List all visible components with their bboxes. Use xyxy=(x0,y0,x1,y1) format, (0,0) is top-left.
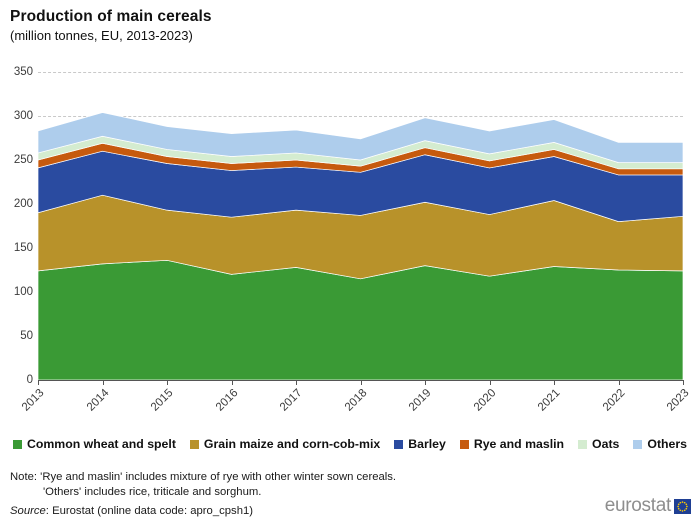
legend-label: Grain maize and corn-cob-mix xyxy=(204,437,380,451)
x-axis-label-2022: 2022 xyxy=(594,387,627,420)
legend-swatch-icon xyxy=(13,440,22,449)
x-axis-label-2021: 2021 xyxy=(530,387,563,420)
area-series-group xyxy=(38,72,683,380)
x-axis-tickmark xyxy=(619,380,620,385)
note-text-1: 'Rye and maslin' includes mixture of rye… xyxy=(40,471,396,483)
y-axis-tick-label: 150 xyxy=(3,242,33,254)
x-axis-label-2013: 2013 xyxy=(14,387,47,420)
y-axis-tick-label: 250 xyxy=(3,154,33,166)
legend-label: Common wheat and spelt xyxy=(27,437,176,451)
legend-label: Rye and maslin xyxy=(474,437,564,451)
x-axis-label-2023: 2023 xyxy=(659,387,692,420)
x-axis-label-2016: 2016 xyxy=(207,387,240,420)
note-label: Note: xyxy=(10,471,37,483)
legend-item-oats[interactable]: Oats xyxy=(578,437,619,451)
y-axis-tick-label: 0 xyxy=(3,374,33,386)
chart-footnotes: Note: 'Rye and maslin' includes mixture … xyxy=(10,470,530,517)
x-axis-label-2020: 2020 xyxy=(465,387,498,420)
y-axis-tick-label: 200 xyxy=(3,198,33,210)
x-axis-label-2019: 2019 xyxy=(401,387,434,420)
y-axis-tick-label: 350 xyxy=(3,66,33,78)
legend-swatch-icon xyxy=(394,440,403,449)
legend-label: Oats xyxy=(592,437,619,451)
legend-label: Others xyxy=(647,437,687,451)
x-axis-label-2018: 2018 xyxy=(336,387,369,420)
y-axis-tick-label: 50 xyxy=(3,330,33,342)
eu-stars-icon xyxy=(674,499,691,514)
y-axis-tick-label: 100 xyxy=(3,286,33,298)
x-axis-tickmark xyxy=(554,380,555,385)
source-line: Source: Eurostat (online data code: apro… xyxy=(10,505,530,517)
legend-swatch-icon xyxy=(633,440,642,449)
stacked-area-canvas xyxy=(38,72,683,380)
x-axis-tickmark xyxy=(683,380,684,385)
legend-item-common-wheat-and-spelt[interactable]: Common wheat and spelt xyxy=(13,437,176,451)
chart-legend: Common wheat and speltGrain maize and co… xyxy=(0,437,700,451)
legend-swatch-icon xyxy=(578,440,587,449)
x-axis-tickmark xyxy=(38,380,39,385)
x-axis-label-2014: 2014 xyxy=(78,387,111,420)
chart-plot-area: 050100150200250300350 201320142015201620… xyxy=(0,0,700,430)
y-axis-tick-label: 300 xyxy=(3,110,33,122)
eu-flag-icon xyxy=(674,499,691,514)
eurostat-wordmark: eurostat xyxy=(605,495,671,517)
x-axis-tickmark xyxy=(103,380,104,385)
eurostat-logo: eurostat xyxy=(605,495,691,517)
x-axis-tickmark xyxy=(296,380,297,385)
legend-item-others[interactable]: Others xyxy=(633,437,687,451)
legend-swatch-icon xyxy=(460,440,469,449)
x-axis-tickmark xyxy=(167,380,168,385)
x-axis-label-2017: 2017 xyxy=(272,387,305,420)
note-line-1: Note: 'Rye and maslin' includes mixture … xyxy=(10,470,530,485)
note-line-2: 'Others' includes rice, triticale and so… xyxy=(10,485,530,500)
x-axis-tickmark xyxy=(425,380,426,385)
x-axis-tickmark xyxy=(490,380,491,385)
legend-item-barley[interactable]: Barley xyxy=(394,437,446,451)
legend-label: Barley xyxy=(408,437,446,451)
source-text: : Eurostat (online data code: apro_cpsh1… xyxy=(46,505,253,517)
legend-item-grain-maize-and-corn-cob-mix[interactable]: Grain maize and corn-cob-mix xyxy=(190,437,380,451)
legend-item-rye-and-maslin[interactable]: Rye and maslin xyxy=(460,437,564,451)
x-axis-tickmark xyxy=(232,380,233,385)
x-axis-label-2015: 2015 xyxy=(143,387,176,420)
source-label: Source xyxy=(10,505,46,517)
x-axis-tickmark xyxy=(361,380,362,385)
legend-swatch-icon xyxy=(190,440,199,449)
y-axis: 050100150200250300350 xyxy=(0,72,33,380)
